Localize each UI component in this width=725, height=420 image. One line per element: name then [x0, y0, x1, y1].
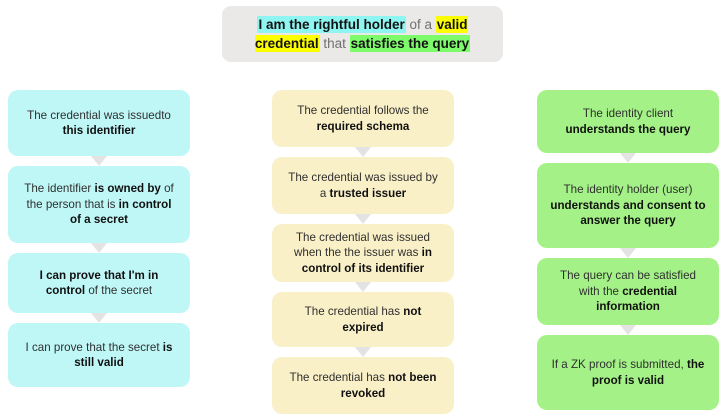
flow-node: I can prove that I'm in control of the s… [8, 253, 190, 313]
header-segment-green: satisfies the query [350, 35, 471, 52]
flow-node-text: I can prove that the secret is still val… [20, 340, 178, 371]
flow-node-text: The identifier is owned by of the person… [20, 181, 178, 228]
flow-connector-arrow-icon [8, 156, 190, 166]
flow-node-emphasis: required schema [317, 120, 410, 133]
flow-connector-arrow-icon [537, 153, 719, 163]
flow-node: The identifier is owned by of the person… [8, 166, 190, 243]
flow-node-text: The credential was issued by a trusted i… [284, 170, 442, 201]
flow-column-holder-proof: The credential was issuedto this identif… [8, 90, 190, 387]
header-claim-banner: I am the rightful holder of a valid cred… [222, 6, 503, 62]
flow-node-plain: The credential was issued [27, 109, 161, 122]
flow-node-emphasis: is owned by [95, 182, 161, 195]
flow-node: The credential was issued when the the i… [272, 224, 454, 282]
flow-node-plain: The identifier [24, 182, 94, 195]
flow-column-credential-validity: The credential follows the required sche… [272, 90, 454, 414]
flow-node: If a ZK proof is submitted, the proof is… [537, 335, 719, 410]
flow-node-text: The credential was issued when the the i… [284, 230, 442, 277]
flow-node-text: I can prove that I'm in control of the s… [20, 268, 178, 299]
flow-connector-arrow-icon [537, 248, 719, 258]
flow-connector-arrow-icon [272, 147, 454, 157]
flow-node-plain: The credential has [305, 305, 404, 318]
flow-node-plain: The identity holder (user) [564, 183, 693, 196]
flow-connector-arrow-icon [272, 347, 454, 357]
flow-node-plain: The credential was issued when the the i… [294, 231, 430, 260]
flow-node: The query can be satisfied with the cred… [537, 258, 719, 325]
flow-connector-arrow-icon [272, 214, 454, 224]
flow-node: The credential was issued by a trusted i… [272, 157, 454, 214]
flow-node-text: The identity client understands the quer… [549, 106, 707, 137]
flow-node: The credential has not been revoked [272, 357, 454, 414]
flow-node: The identity client understands the quer… [537, 90, 719, 153]
flow-node-plain: The credential has [290, 371, 389, 384]
flow-node-text: The identity holder (user) understands a… [549, 182, 707, 229]
flow-node-text: The credential has not been revoked [284, 370, 442, 401]
flow-node-plain: If a ZK proof is submitted, [552, 358, 687, 371]
flow-node-plain: The credential follows the [297, 104, 428, 117]
flow-node-plain: of the secret [85, 284, 152, 297]
flow-connector-arrow-icon [8, 243, 190, 253]
flow-node: The identity holder (user) understands a… [537, 163, 719, 248]
flow-column-query-consent: The identity client understands the quer… [537, 90, 719, 410]
header-claim-text: I am the rightful holder of a valid cred… [237, 15, 489, 53]
flow-node-text: If a ZK proof is submitted, the proof is… [549, 357, 707, 388]
flow-node-emphasis: understands and consent to answer the qu… [550, 199, 705, 228]
flow-connector-arrow-icon [537, 325, 719, 335]
flow-node-text: The query can be satisfied with the cred… [549, 268, 707, 315]
flow-node-text: The credential was issuedto this identif… [20, 108, 178, 139]
flow-node: The credential has not expired [272, 292, 454, 347]
flow-node-text: The credential follows the required sche… [284, 103, 442, 134]
header-segment-plain: that [323, 36, 349, 51]
header-segment-plain: of a [409, 17, 435, 32]
header-segment-cyan: I am the rightful holder [257, 16, 405, 33]
flow-connector-arrow-icon [272, 282, 454, 292]
flow-node-plain: I can prove that the secret [26, 341, 163, 354]
flow-connector-arrow-icon [8, 313, 190, 323]
flow-node: The credential follows the required sche… [272, 90, 454, 147]
flow-node-plain: to [161, 109, 171, 122]
flow-node: I can prove that the secret is still val… [8, 323, 190, 387]
flow-node-emphasis: this identifier [63, 124, 136, 137]
flow-node-text: The credential has not expired [284, 304, 442, 335]
flow-node-plain: The identity client [583, 107, 673, 120]
flow-node-emphasis: understands the query [566, 123, 691, 136]
flow-node: The credential was issuedto this identif… [8, 90, 190, 156]
flow-node-emphasis: trusted issuer [329, 187, 406, 200]
